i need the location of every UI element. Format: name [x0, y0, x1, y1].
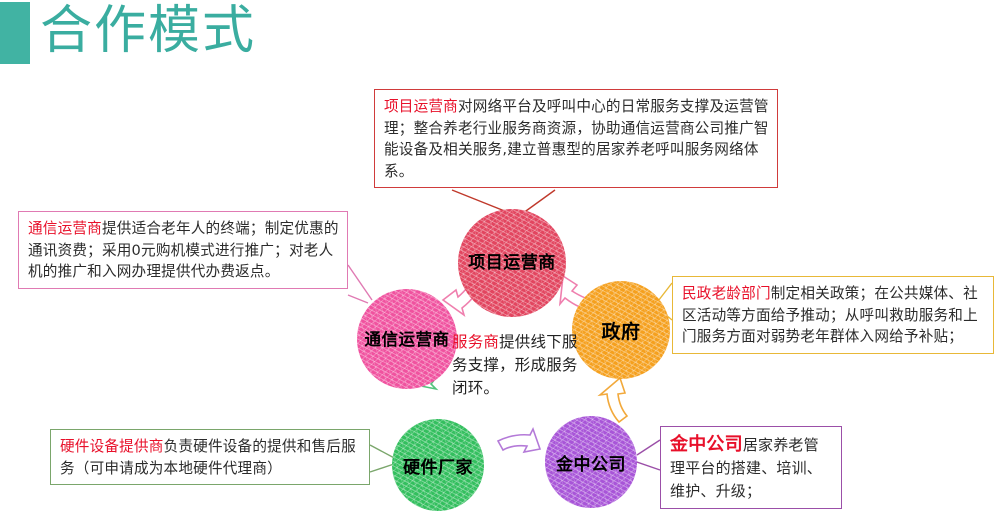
node-project-operator-label: 项目运营商: [468, 253, 556, 274]
callout-project-operator-highlight: 项目运营商: [384, 98, 458, 115]
callout-civil-affairs[interactable]: 民政老龄部门制定相关政策；在公共媒体、社区活动等方面给予推动；从呼叫救助服务和上…: [672, 276, 994, 354]
node-government-label: 政府: [601, 317, 640, 344]
node-hardware-maker[interactable]: 硬件厂家: [392, 419, 484, 511]
arrow-government-to-jinzhong: [600, 378, 627, 422]
center-note-highlight: 服务商: [452, 333, 499, 351]
slide-canvas: 合作模式: [0, 0, 1000, 513]
node-hardware-maker-label: 硬件厂家: [403, 453, 473, 478]
node-jinzhong-company[interactable]: 金中公司: [545, 416, 637, 508]
callout-hardware-provider[interactable]: 硬件设备提供商负责硬件设备的提供和售后服务（可申请成为本地硬件代理商）: [50, 429, 370, 485]
connector-telecom-operator: [348, 265, 372, 303]
connector-jinzhong-company: [634, 440, 660, 470]
node-telecom-operator[interactable]: 通信运营商: [357, 289, 457, 389]
node-jinzhong-company-label: 金中公司: [556, 450, 626, 475]
node-project-operator[interactable]: 项目运营商: [458, 209, 566, 317]
callout-civil-affairs-highlight: 民政老龄部门: [682, 285, 771, 302]
center-note: 服务商提供线下服务支撑，形成服务闭环。: [452, 331, 587, 400]
callout-jinzhong-company-highlight: 金中公司: [670, 434, 743, 455]
callout-jinzhong-company[interactable]: 金中公司居家养老管理平台的搭建、培训、维护、升级；: [660, 426, 842, 509]
arrow-jinzhong-to-hardware: [498, 429, 540, 452]
callout-hardware-provider-highlight: 硬件设备提供商: [60, 438, 164, 455]
callout-telecom-operator[interactable]: 通信运营商提供适合老年人的终端；制定优惠的通讯资费；采用0元购机模式进行推广；对…: [18, 211, 348, 289]
node-telecom-operator-label: 通信运营商: [365, 329, 450, 350]
callout-telecom-operator-highlight: 通信运营商: [28, 220, 102, 237]
callout-project-operator[interactable]: 项目运营商对网络平台及呼叫中心的日常服务支撑及运营管理；整合养老行业服务商资源，…: [374, 89, 778, 188]
